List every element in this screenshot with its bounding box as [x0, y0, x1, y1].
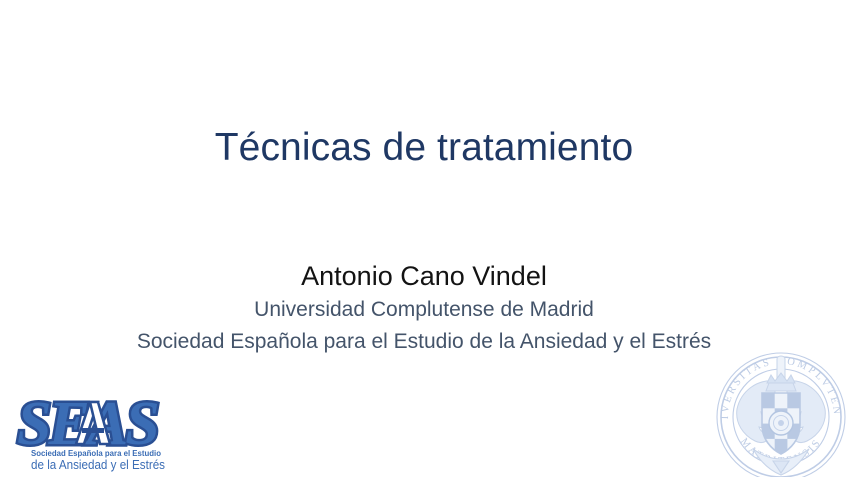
affiliation-line-1: Universidad Complutense de Madrid [0, 294, 848, 326]
seas-logo: SEAS SEAS Sociedad Española para el Estu… [14, 388, 178, 474]
author-name: Antonio Cano Vindel [0, 258, 848, 294]
seas-tagline-line-1: Sociedad Española para el Estudio [31, 448, 161, 458]
title-placeholder: Técnicas de tratamiento [0, 126, 848, 170]
seal-shield [762, 393, 800, 454]
subtitle-placeholder: Antonio Cano Vindel Universidad Complute… [0, 258, 848, 358]
seas-logo-graphic: SEAS SEAS Sociedad Española para el Estu… [14, 388, 178, 474]
seas-tagline-line-2: de la Ansiedad y el Estrés [31, 458, 165, 472]
ucm-seal: VNIVERSITAS COMPLVTENSIS MATRITENSIS [713, 349, 848, 477]
presentation-slide: Técnicas de tratamiento Antonio Cano Vin… [0, 0, 848, 477]
ucm-seal-graphic: VNIVERSITAS COMPLVTENSIS MATRITENSIS [713, 349, 848, 477]
page-title: Técnicas de tratamiento [0, 126, 848, 170]
